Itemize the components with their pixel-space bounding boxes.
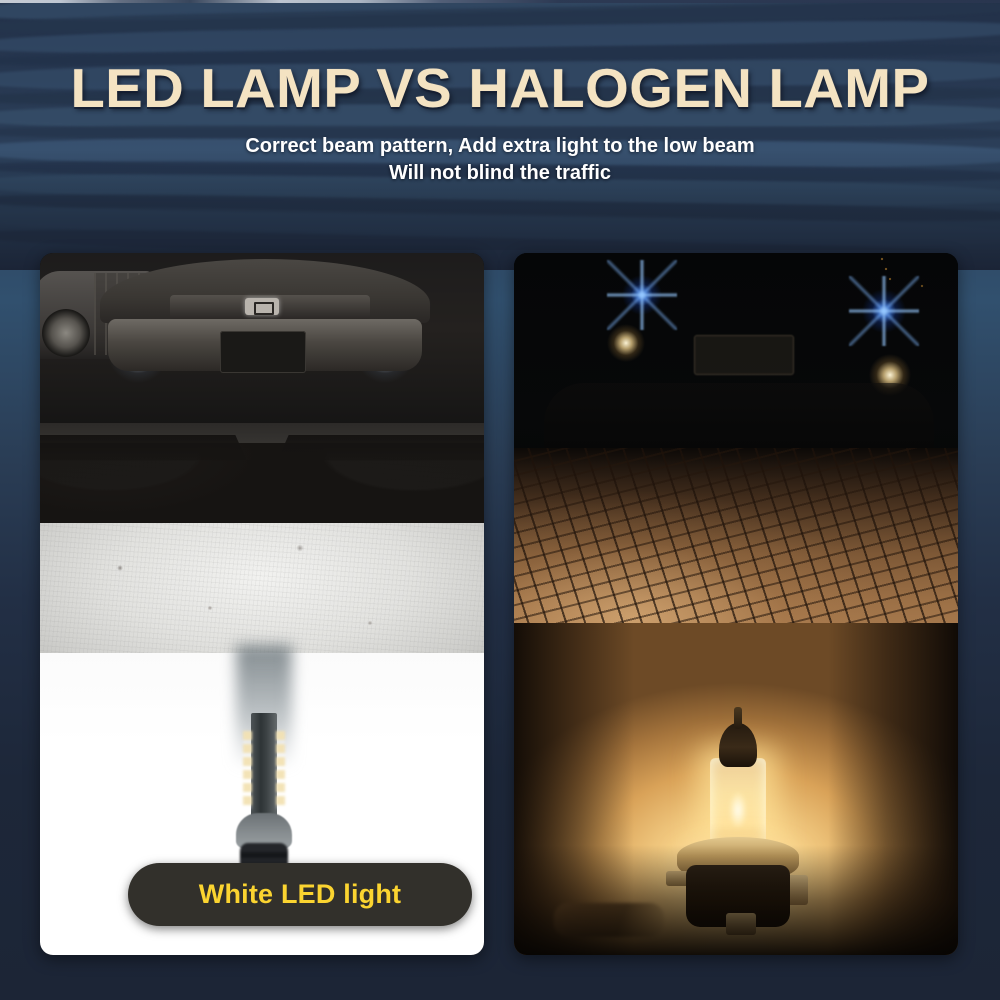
led-chip-array-left xyxy=(243,731,252,809)
poster-header: LED LAMP VS HALOGEN LAMP Correct beam pa… xyxy=(0,0,1000,188)
subtitle-line-2: Will not blind the traffic xyxy=(0,160,1000,188)
background-amber-specks xyxy=(864,253,954,299)
led-bulb-body xyxy=(251,713,277,823)
poster-subtitle: Correct beam pattern, Add extra light to… xyxy=(0,133,1000,188)
halogen-photo-collage xyxy=(514,253,958,955)
led-chip-array-right xyxy=(276,731,285,809)
honda-emblem-icon xyxy=(245,298,279,315)
comparison-panel-halogen: yellow halogen lamp xyxy=(514,253,958,955)
badge-white-led-light: White LED light xyxy=(128,863,472,926)
subtitle-line-1: Correct beam pattern, Add extra light to… xyxy=(0,133,1000,161)
comparison-panel-led: White LED light xyxy=(40,253,484,955)
led-adjacent-car-wheel xyxy=(42,309,90,357)
blue-accent-light-left xyxy=(607,260,677,330)
led-photo-collage xyxy=(40,253,484,955)
halogen-license-plate xyxy=(694,335,794,375)
led-license-plate xyxy=(220,331,306,373)
badge-label-led: White LED light xyxy=(199,879,401,910)
poster-canvas: LED LAMP VS HALOGEN LAMP Correct beam pa… xyxy=(0,0,1000,1000)
page-title: LED LAMP VS HALOGEN LAMP xyxy=(0,60,1000,118)
halogen-vignette-bottom xyxy=(514,845,958,955)
brick-pavement-lit-by-halogen xyxy=(514,448,958,640)
halogen-bulb-filament xyxy=(730,793,746,827)
